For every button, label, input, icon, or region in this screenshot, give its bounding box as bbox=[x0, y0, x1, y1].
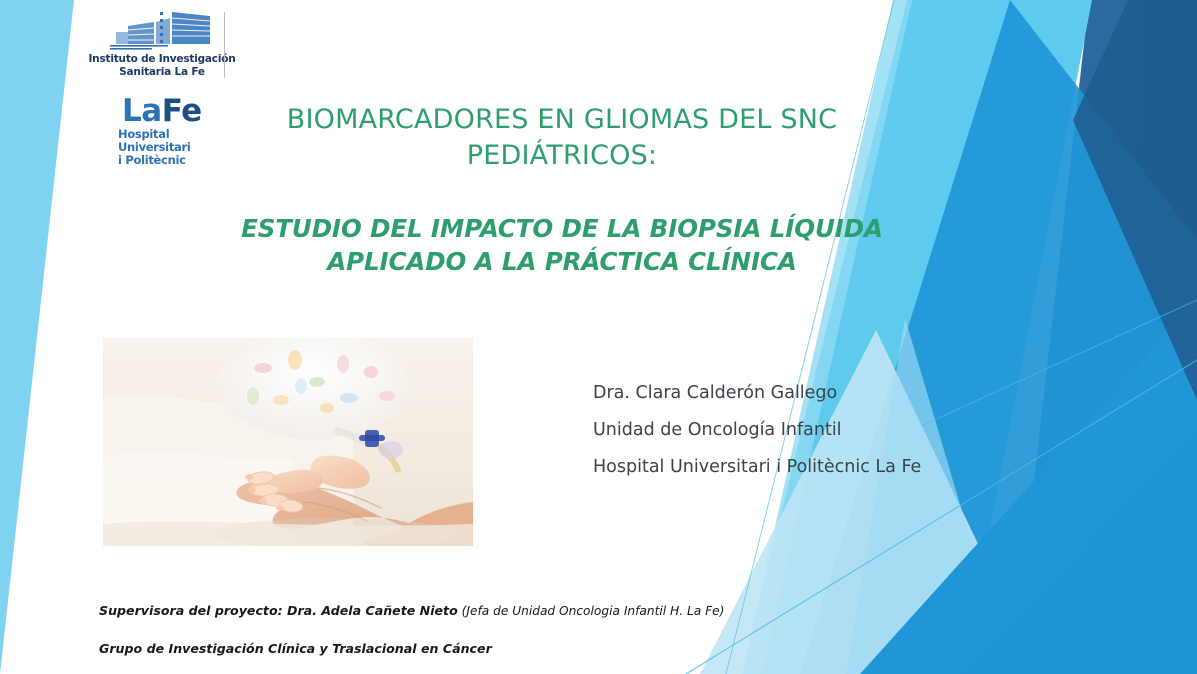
logo-iis-text: Instituto de Investigación Sanitaria La … bbox=[88, 53, 236, 78]
bright-bottom-triangle-2 bbox=[960, 430, 1197, 674]
dark-overlap-wedge bbox=[1073, 0, 1197, 400]
building-skyline-icon bbox=[110, 10, 214, 50]
footer-research-group: Grupo de Investigación Clínica y Traslac… bbox=[99, 630, 959, 667]
footer-supervisor-name: Supervisora del proyecto: Dra. Adela Cañ… bbox=[99, 603, 458, 618]
logo-instituto-investigacion: Instituto de Investigación Sanitaria La … bbox=[88, 10, 236, 78]
author-name: Dra. Clara Calderón Gallego bbox=[593, 375, 993, 412]
author-block: Dra. Clara Calderón Gallego Unidad de On… bbox=[593, 375, 993, 486]
hero-photo bbox=[103, 338, 473, 546]
logo-lafe-fe: Fe bbox=[162, 93, 202, 129]
footer-block: Supervisora del proyecto: Dra. Adela Cañ… bbox=[99, 592, 959, 667]
logo-lafe-subtitle: Hospital Universitari i Politècnic bbox=[118, 128, 236, 168]
right-dark-band-2 bbox=[1120, 0, 1197, 674]
logo-iis-wrapper: Instituto de Investigación Sanitaria La … bbox=[88, 10, 236, 78]
author-institution: Hospital Universitari i Politècnic La Fe bbox=[593, 449, 993, 486]
hero-photo-illustration bbox=[103, 338, 473, 546]
page-title: BIOMARCADORES EN GLIOMAS DEL SNC PEDIÁTR… bbox=[236, 102, 888, 174]
logo-lafe-wordmark: LaFe bbox=[122, 96, 236, 127]
footer-supervisor-role: (Jefa de Unidad Oncologia Infantil H. La… bbox=[458, 604, 725, 618]
presentation-slide: Instituto de Investigación Sanitaria La … bbox=[0, 0, 1197, 674]
logo-lafe-la: La bbox=[122, 93, 162, 129]
right-dark-band bbox=[1012, 0, 1197, 674]
author-unit: Unidad de Oncología Infantil bbox=[593, 412, 993, 449]
footer-supervisor: Supervisora del proyecto: Dra. Adela Cañ… bbox=[99, 592, 959, 630]
logo-la-fe: LaFe Hospital Universitari i Politècnic bbox=[118, 96, 236, 168]
title-area: BIOMARCADORES EN GLIOMAS DEL SNC PEDIÁTR… bbox=[236, 102, 888, 278]
left-accent-wedge bbox=[0, 0, 74, 674]
logo-vertical-divider bbox=[224, 12, 225, 78]
page-subtitle: ESTUDIO DEL IMPACTO DE LA BIOPSIA LÍQUID… bbox=[236, 174, 888, 278]
